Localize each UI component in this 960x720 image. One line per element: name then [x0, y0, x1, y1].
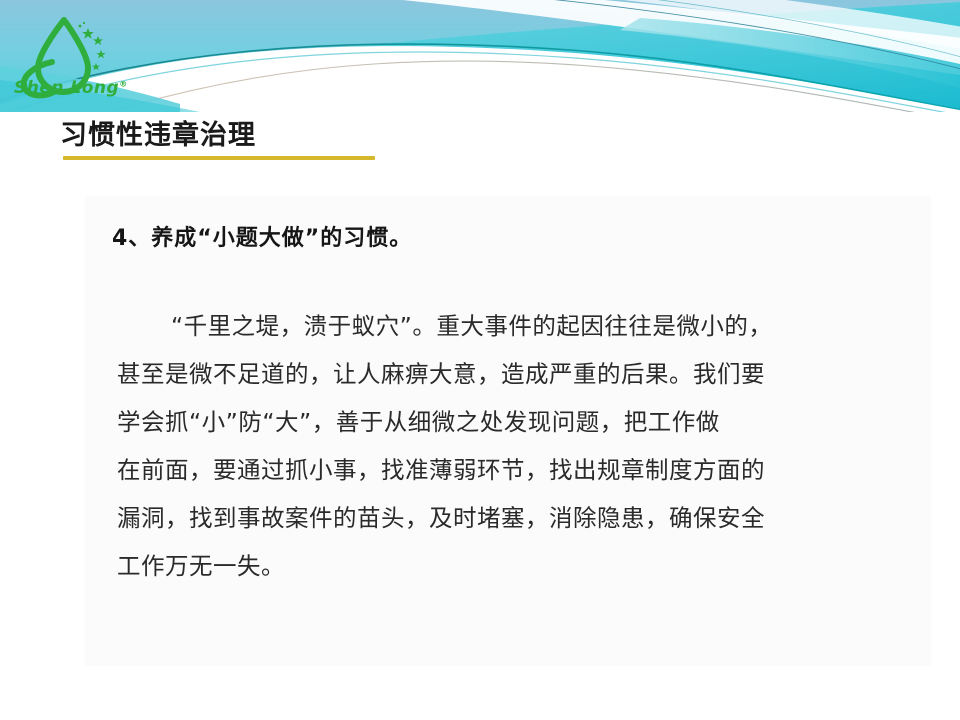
paragraph-line: 工作万无一失。 [117, 542, 907, 590]
page-title: 习惯性违章治理 [60, 113, 256, 152]
header-banner [0, 0, 960, 112]
logo-wordmark: Shen Long® [14, 78, 128, 98]
slide-canvas: Shen Long® 习惯性违章治理 4、养成“小题大做”的习惯。 “千里之堤，… [0, 0, 960, 720]
content-paragraph: “千里之堤，溃于蚁穴”。重大事件的起因往往是微小的， 甚至是微不足道的，让人麻痹… [117, 302, 907, 590]
paragraph-line: “千里之堤，溃于蚁穴”。重大事件的起因往往是微小的， [117, 302, 907, 350]
paragraph-line: 在前面，要通过抓小事，找准薄弱环节，找出规章制度方面的 [117, 446, 907, 494]
title-underline-rule [63, 156, 375, 160]
registered-mark-icon: ® [119, 79, 128, 88]
logo-brand-text: Shen Long [14, 78, 119, 98]
paragraph-line: 学会抓“小”防“大”，善于从细微之处发现问题，把工作做 [117, 398, 907, 446]
content-heading: 4、养成“小题大做”的习惯。 [112, 220, 412, 252]
paragraph-line: 甚至是微不足道的，让人麻痹大意，造成严重的后果。我们要 [117, 350, 907, 398]
paragraph-line: 漏洞，找到事故案件的苗头，及时堵塞，消除隐患，确保安全 [117, 494, 907, 542]
content-panel: 4、养成“小题大做”的习惯。 “千里之堤，溃于蚁穴”。重大事件的起因往往是微小的… [85, 196, 931, 666]
